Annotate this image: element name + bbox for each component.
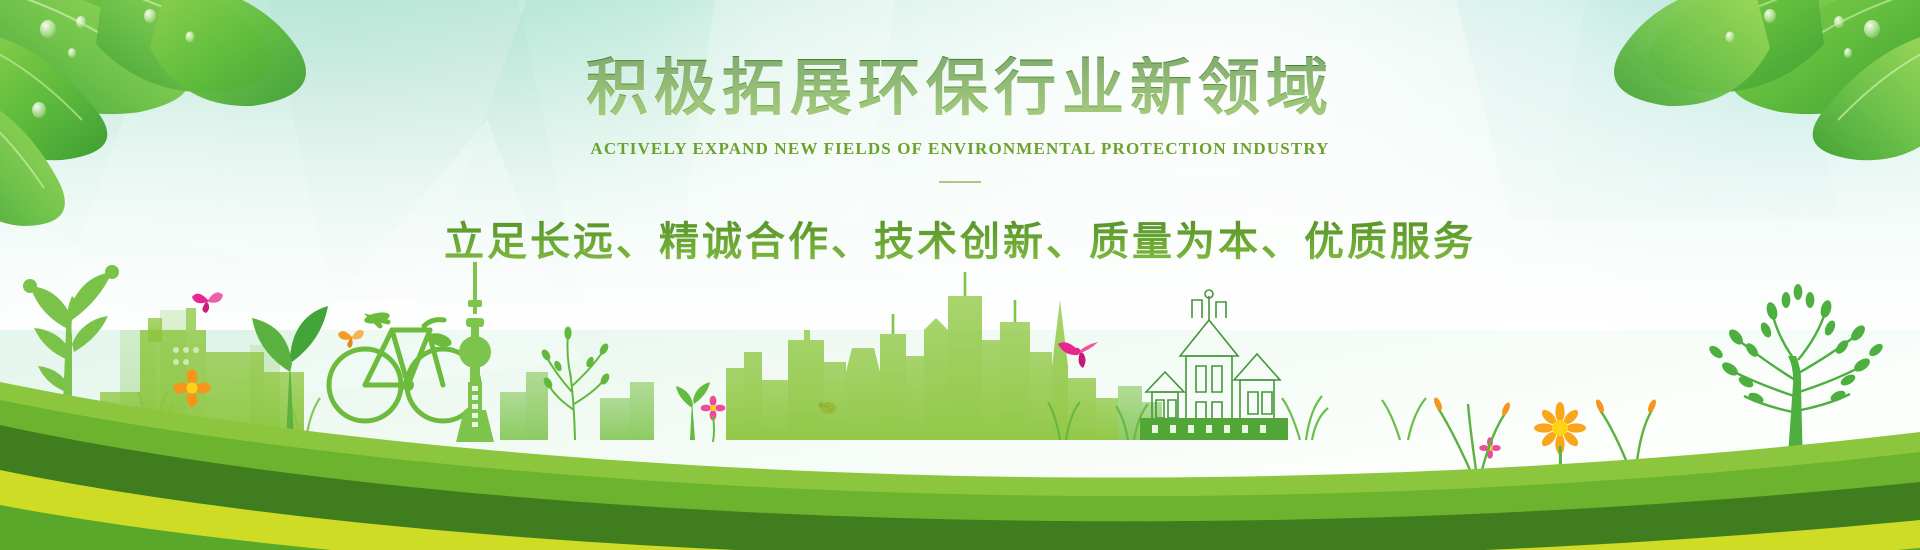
leaf-decorations	[0, 0, 1920, 550]
eco-banner: 积极拓展环保行业新领域 ACTIVELY EXPAND NEW FIELDS O…	[0, 0, 1920, 550]
water-droplet	[1726, 32, 1735, 43]
water-droplet	[1764, 9, 1776, 23]
water-droplet	[32, 102, 46, 118]
water-droplet	[144, 9, 156, 23]
water-droplet	[1844, 48, 1852, 58]
water-droplet	[76, 16, 86, 28]
water-droplet	[1864, 20, 1880, 38]
water-droplet	[1834, 16, 1844, 28]
water-droplet	[186, 32, 195, 43]
water-droplet	[68, 48, 76, 58]
water-droplet	[40, 20, 56, 38]
